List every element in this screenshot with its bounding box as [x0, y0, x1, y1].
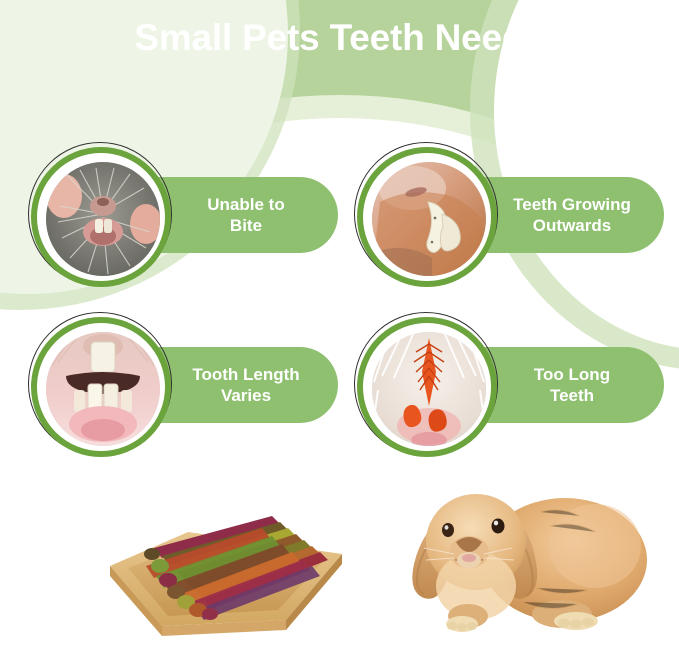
feature-label-text: Too Long Teeth [482, 364, 618, 407]
card-photo-unable-to-bite [46, 162, 160, 276]
page-title: Small Pets Teeth Needs [0, 18, 679, 59]
photo-ring-outline [354, 312, 498, 456]
card-photo-too-long-teeth [372, 332, 486, 446]
photo-ring-outline [28, 312, 172, 456]
photo-ring-green [357, 317, 497, 457]
card-photo-tooth-length-varies [46, 332, 160, 446]
chew-sticks-on-wooden-tray-photo [76, 470, 366, 640]
feature-label-text: Unable to Bite [155, 194, 292, 237]
photo-ring-outline [28, 142, 172, 286]
photo-ring-green [31, 317, 171, 457]
feature-card-too-long-teeth: Too Long Teeth [344, 312, 664, 462]
feature-card-teeth-growing-outwards: Teeth Growing Outwards [344, 142, 664, 292]
infographic-poster: Small Pets Teeth Needs Unable to Bite [0, 0, 679, 652]
feature-card-unable-to-bite: Unable to Bite [18, 142, 338, 292]
photo-ring-outline [354, 142, 498, 286]
photo-ring-green [357, 147, 497, 287]
photo-ring-green [31, 147, 171, 287]
feature-card-tooth-length-varies: Tooth Length Varies [18, 312, 338, 462]
card-photo-teeth-growing-outwards [372, 162, 486, 276]
lop-eared-rabbit-photo [390, 468, 670, 648]
